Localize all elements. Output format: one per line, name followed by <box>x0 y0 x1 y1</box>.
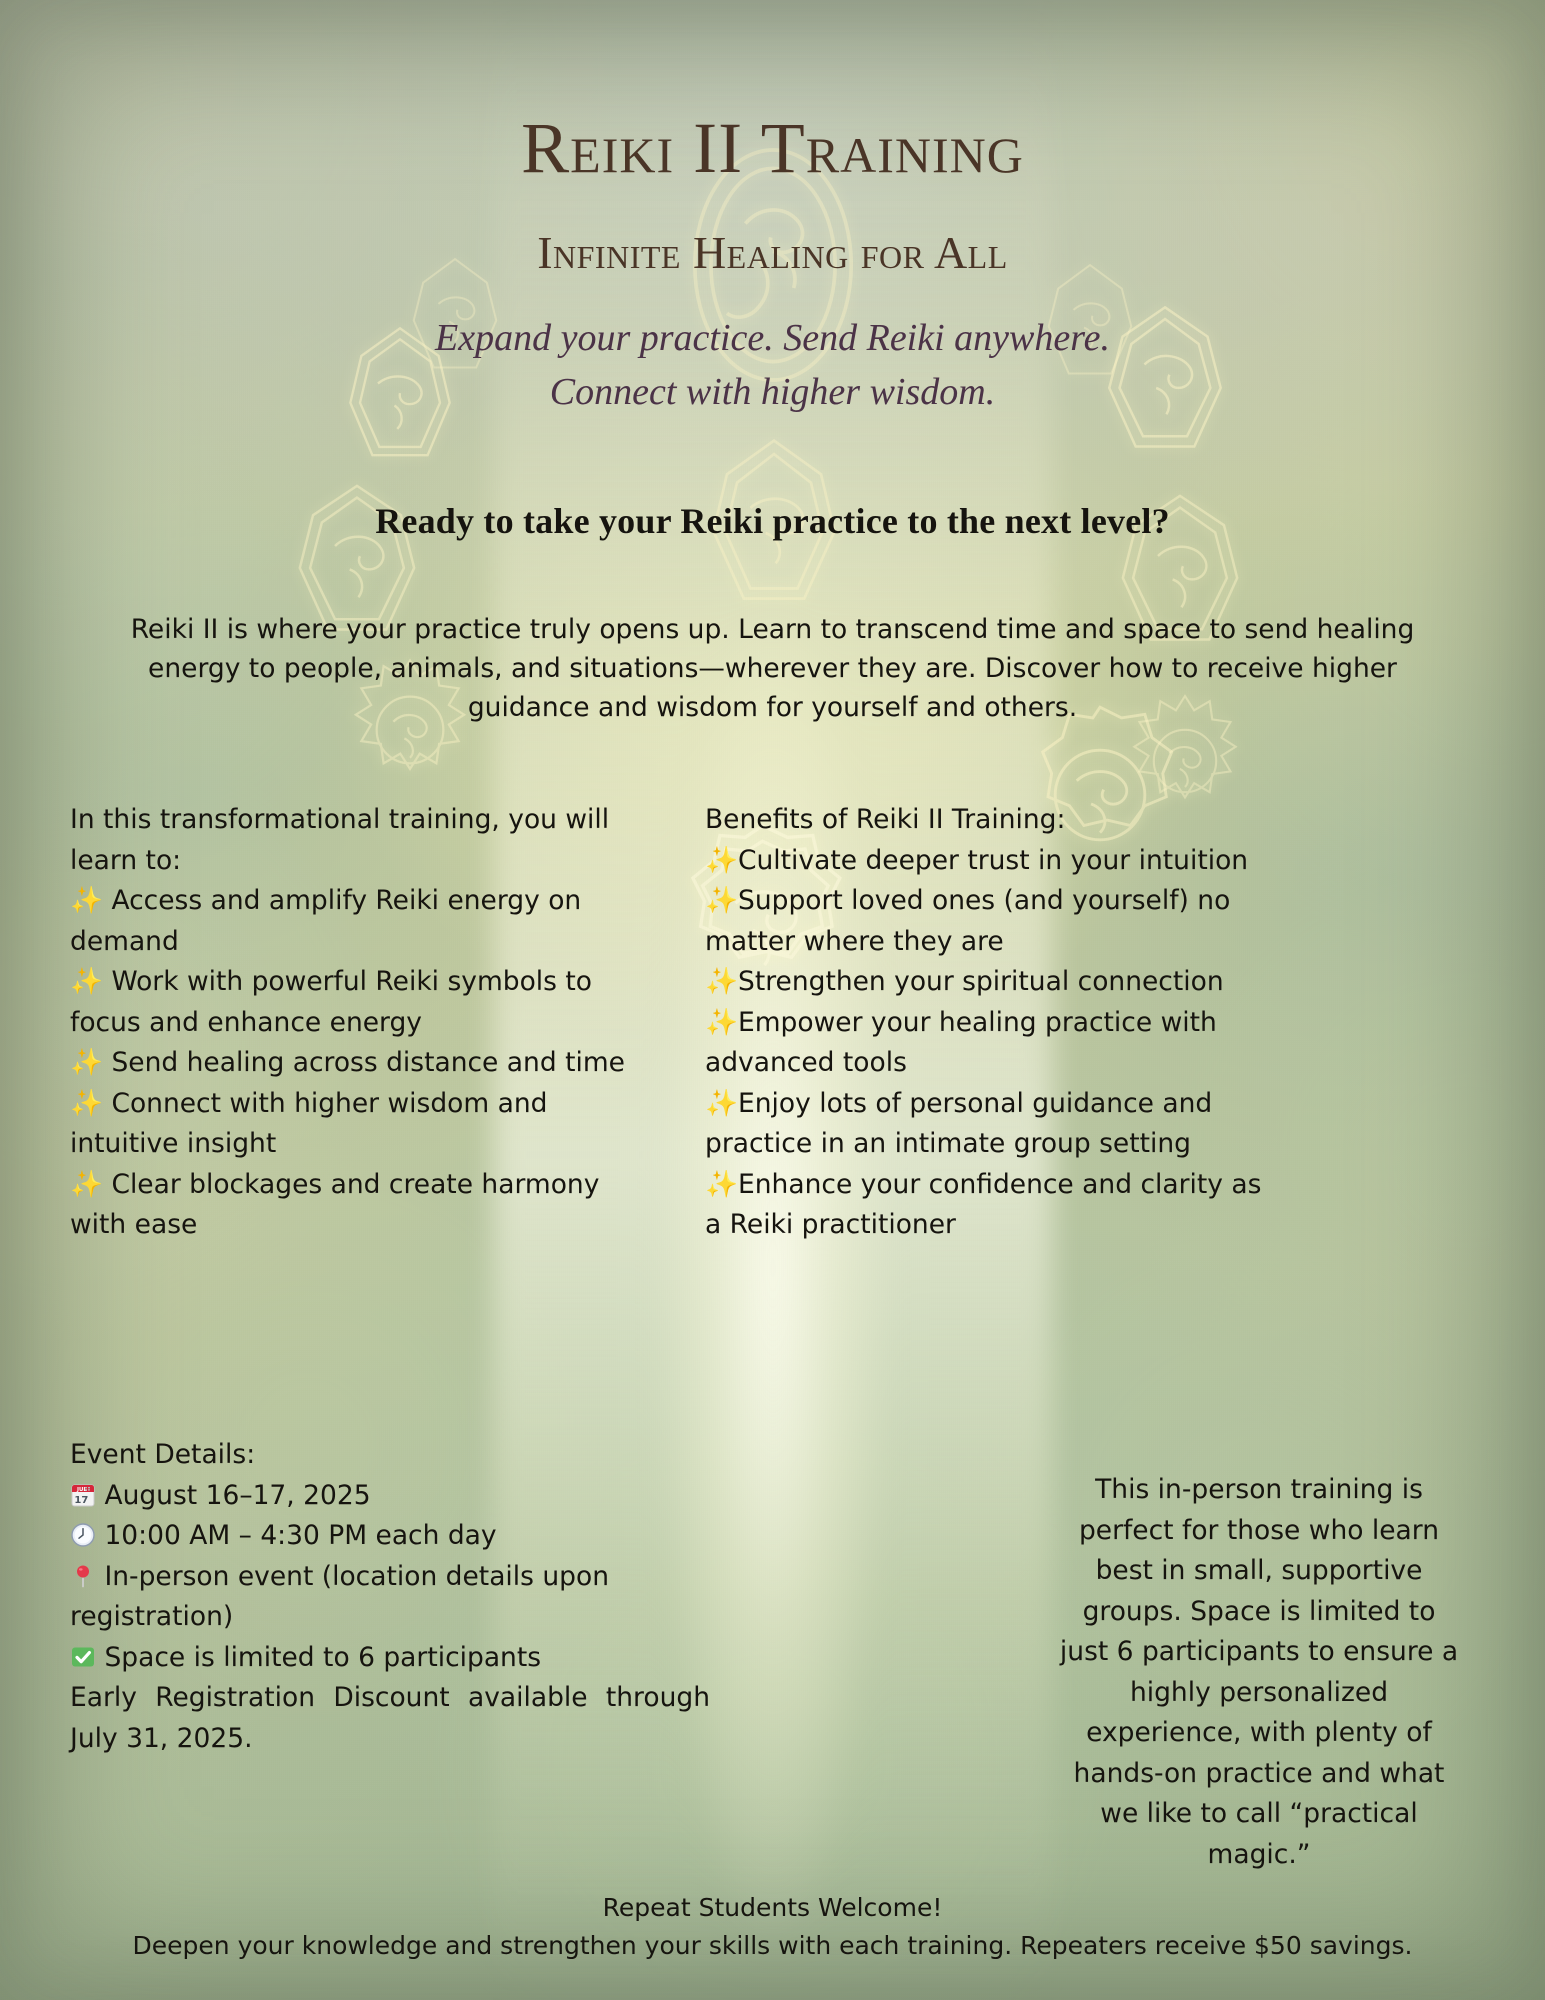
list-item-label: Enhance your confidence and clarity as a… <box>705 1169 1261 1241</box>
reiki-training-flyer: Reiki II Training Infinite Healing for A… <box>0 0 1545 2000</box>
event-time-row: 10:00 AM – 4:30 PM each day <box>70 1516 710 1557</box>
event-details-block: Event Details: JUL 17 August 16–17, 20 <box>70 1435 710 1759</box>
svg-text:17: 17 <box>74 1495 88 1506</box>
sparkles-icon: ✨ <box>705 885 738 916</box>
list-item: ✨ Access and amplify Reiki energy on dem… <box>70 881 635 962</box>
right-column: Benefits of Reiki II Training: ✨Cultivat… <box>705 800 1270 1246</box>
small-group-blurb-text: This in-person training is perfect for t… <box>1059 1470 1459 1875</box>
check-mark-icon <box>70 1642 96 1668</box>
sparkles-icon: ✨ <box>70 885 103 916</box>
event-date-row: JUL 17 August 16–17, 2025 <box>70 1476 710 1517</box>
event-location-row: In-person event (location details upon r… <box>70 1557 710 1638</box>
flyer-footer: Repeat Students Welcome! Deepen your kno… <box>40 1889 1505 1964</box>
footer-line-2: Deepen your knowledge and strengthen you… <box>40 1927 1505 1965</box>
right-column-heading: Benefits of Reiki II Training: <box>705 800 1270 841</box>
event-capacity-row: Space is limited to 6 participants <box>70 1638 710 1679</box>
pin-icon <box>70 1561 96 1587</box>
sparkles-icon: ✨ <box>705 1007 738 1038</box>
flyer-content: Reiki II Training Infinite Healing for A… <box>0 0 1545 2000</box>
sparkles-icon: ✨ <box>70 1047 103 1078</box>
tagline-line-1: Expand your practice. Send Reiki anywher… <box>0 312 1545 366</box>
list-item-label: Send healing across distance and time <box>111 1047 625 1078</box>
list-item: ✨ Clear blockages and create harmony wit… <box>70 1165 635 1246</box>
list-item-label: Enjoy lots of personal guidance and prac… <box>705 1088 1212 1160</box>
sparkles-icon: ✨ <box>705 845 738 876</box>
flyer-title: Reiki II Training <box>0 112 1545 184</box>
footer-line-1: Repeat Students Welcome! <box>40 1889 1505 1927</box>
list-item-label: Access and amplify Reiki energy on deman… <box>70 885 581 957</box>
sparkles-icon: ✨ <box>70 966 103 997</box>
list-item: ✨Enjoy lots of personal guidance and pra… <box>705 1084 1270 1165</box>
list-item: ✨ Connect with higher wisdom and intuiti… <box>70 1084 635 1165</box>
list-item-label: Connect with higher wisdom and intuitive… <box>70 1088 547 1160</box>
list-item-label: Strengthen your spiritual connection <box>738 966 1224 997</box>
sparkles-icon: ✨ <box>705 1088 738 1119</box>
flyer-subtitle: Infinite Healing for All <box>0 230 1545 276</box>
clock-icon <box>70 1520 96 1546</box>
sparkles-icon: ✨ <box>70 1088 103 1119</box>
left-column-heading: In this transformational training, you w… <box>70 800 635 881</box>
list-item: ✨Strengthen your spiritual connection <box>705 962 1270 1003</box>
event-discount-note: Early Registration Discount available th… <box>70 1678 710 1759</box>
list-item: ✨Empower your healing practice with adva… <box>705 1003 1270 1084</box>
sparkles-icon: ✨ <box>705 1169 738 1200</box>
list-item-label: Empower your healing practice with advan… <box>705 1007 1217 1079</box>
sparkles-icon: ✨ <box>70 1169 103 1200</box>
list-item: ✨Enhance your confidence and clarity as … <box>705 1165 1270 1246</box>
list-item-label: Work with powerful Reiki symbols to focu… <box>70 966 592 1038</box>
small-group-blurb: This in-person training is perfect for t… <box>1059 1470 1459 1875</box>
list-item: ✨Support loved ones (and yourself) no ma… <box>705 881 1270 962</box>
flyer-hook-question: Ready to take your Reiki practice to the… <box>0 500 1545 542</box>
flyer-intro-paragraph: Reiki II is where your practice truly op… <box>92 610 1453 728</box>
list-item-label: Cultivate deeper trust in your intuition <box>738 845 1248 876</box>
event-details-heading: Event Details: <box>70 1435 710 1476</box>
list-item: ✨ Send healing across distance and time <box>70 1043 635 1084</box>
event-date-label: August 16–17, 2025 <box>104 1480 370 1511</box>
list-item: ✨Cultivate deeper trust in your intuitio… <box>705 841 1270 882</box>
flyer-tagline: Expand your practice. Send Reiki anywher… <box>0 312 1545 420</box>
event-time-label: 10:00 AM – 4:30 PM each day <box>104 1520 496 1551</box>
two-column-lists: In this transformational training, you w… <box>70 800 1475 1246</box>
sparkles-icon: ✨ <box>705 966 738 997</box>
list-item: ✨ Work with powerful Reiki symbols to fo… <box>70 962 635 1043</box>
event-capacity-label: Space is limited to 6 participants <box>104 1642 541 1673</box>
tagline-line-2: Connect with higher wisdom. <box>0 366 1545 420</box>
list-item-label: Clear blockages and create harmony with … <box>70 1169 599 1241</box>
left-column: In this transformational training, you w… <box>70 800 635 1246</box>
calendar-icon: JUL 17 <box>70 1480 96 1506</box>
event-location-label: In-person event (location details upon r… <box>70 1561 609 1633</box>
list-item-label: Support loved ones (and yourself) no mat… <box>705 885 1230 957</box>
